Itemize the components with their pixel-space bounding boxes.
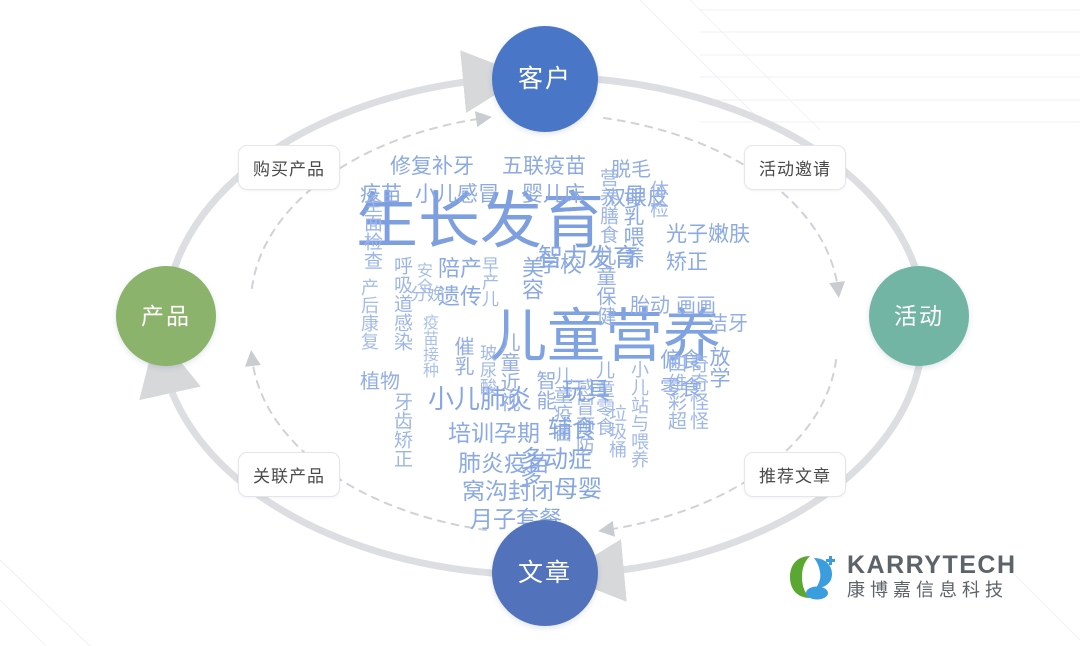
word-cloud-term: 牙齿矫正 xyxy=(392,392,411,468)
word-cloud-term: 陪产 xyxy=(438,258,482,280)
word-cloud-term: 全面检查 xyxy=(362,194,381,270)
word-cloud: 生长发育儿童营养修复补牙五联疫苗疫苗小儿感冒婴儿床脱毛双眼皮全面检查产后康复呼吸… xyxy=(330,128,760,520)
word-cloud-term: 多 xyxy=(520,466,542,488)
infographic-canvas: 生长发育儿童营养修复补牙五联疫苗疫苗小儿感冒婴儿床脱毛双眼皮全面检查产后康复呼吸… xyxy=(0,0,1080,646)
word-cloud-term: 母婴 xyxy=(554,478,602,502)
word-cloud-term: 儿童保健 xyxy=(594,246,614,326)
word-cloud-term: 智能 xyxy=(534,370,554,410)
word-cloud-term: 五联疫苗 xyxy=(502,156,586,177)
edge-label-buy-product[interactable]: 购买产品 xyxy=(238,145,340,190)
word-cloud-term: 遗传 xyxy=(438,286,482,308)
word-cloud-term: 婴儿床 xyxy=(522,184,585,205)
word-cloud-term: 母乳喂养 xyxy=(622,184,643,268)
word-cloud-term: 学校 xyxy=(538,254,582,276)
word-cloud-term: 奇奇怪怪 xyxy=(688,354,707,430)
word-cloud-term: 放学 xyxy=(708,346,729,388)
edge-label-related-product[interactable]: 关联产品 xyxy=(238,452,340,497)
edge-label-recommended-article[interactable]: 推荐文章 xyxy=(744,452,846,497)
word-cloud-term: 分娩 xyxy=(410,286,444,303)
logo-name-cn: 康博嘉信息科技 xyxy=(847,580,1017,602)
word-cloud-term: 营养膳食 xyxy=(598,168,617,244)
word-cloud-term: 辅食 xyxy=(548,418,596,442)
logo-name-en: KARRYTECH xyxy=(847,552,1017,578)
word-cloud-term: 体检 xyxy=(648,180,667,218)
word-cloud-term: 玻尿酸 xyxy=(478,344,495,395)
word-cloud-term: 催乳 xyxy=(452,336,472,376)
node-activity-label: 活动 xyxy=(894,305,944,328)
node-product-label: 产品 xyxy=(141,305,191,328)
node-article-label: 文章 xyxy=(518,561,572,586)
word-cloud-term: 胎动 xyxy=(630,296,670,316)
word-cloud-term: 洁牙 xyxy=(708,314,748,334)
word-cloud-term: 光子嫩肤 xyxy=(666,224,750,245)
karrytech-logo-icon xyxy=(784,552,838,602)
node-customer-label: 客户 xyxy=(518,67,572,92)
word-cloud-term: 四维彩超 xyxy=(666,354,685,430)
word-cloud-term: 培训孕期 xyxy=(448,422,540,445)
word-cloud-term: 早产儿 xyxy=(480,256,497,307)
edge-label-activity-invitation[interactable]: 活动邀请 xyxy=(744,145,846,190)
word-cloud-term: 产后康复 xyxy=(360,278,378,350)
word-cloud-term: 小儿感冒 xyxy=(415,184,499,205)
node-article[interactable]: 文章 xyxy=(492,520,598,626)
word-cloud-term: 玩具 xyxy=(562,380,610,404)
node-activity[interactable]: 活动 xyxy=(869,266,969,366)
word-cloud-term: 小儿站与喂养 xyxy=(630,360,648,468)
word-cloud-term: 矫正 xyxy=(666,252,708,273)
word-cloud-term: 植物 xyxy=(360,372,400,392)
word-cloud-term: 疫苗接种 xyxy=(420,314,436,378)
brand-logo: KARRYTECH 康博嘉信息科技 xyxy=(784,552,1017,602)
word-cloud-term: 垃圾桶 xyxy=(608,404,626,458)
word-cloud-term: 儿童近视 xyxy=(498,332,518,412)
node-product[interactable]: 产品 xyxy=(116,266,216,366)
word-cloud-term: 呼吸道感染 xyxy=(392,256,411,351)
word-cloud-term: 修复补牙 xyxy=(390,156,474,177)
node-customer[interactable]: 客户 xyxy=(492,26,598,132)
